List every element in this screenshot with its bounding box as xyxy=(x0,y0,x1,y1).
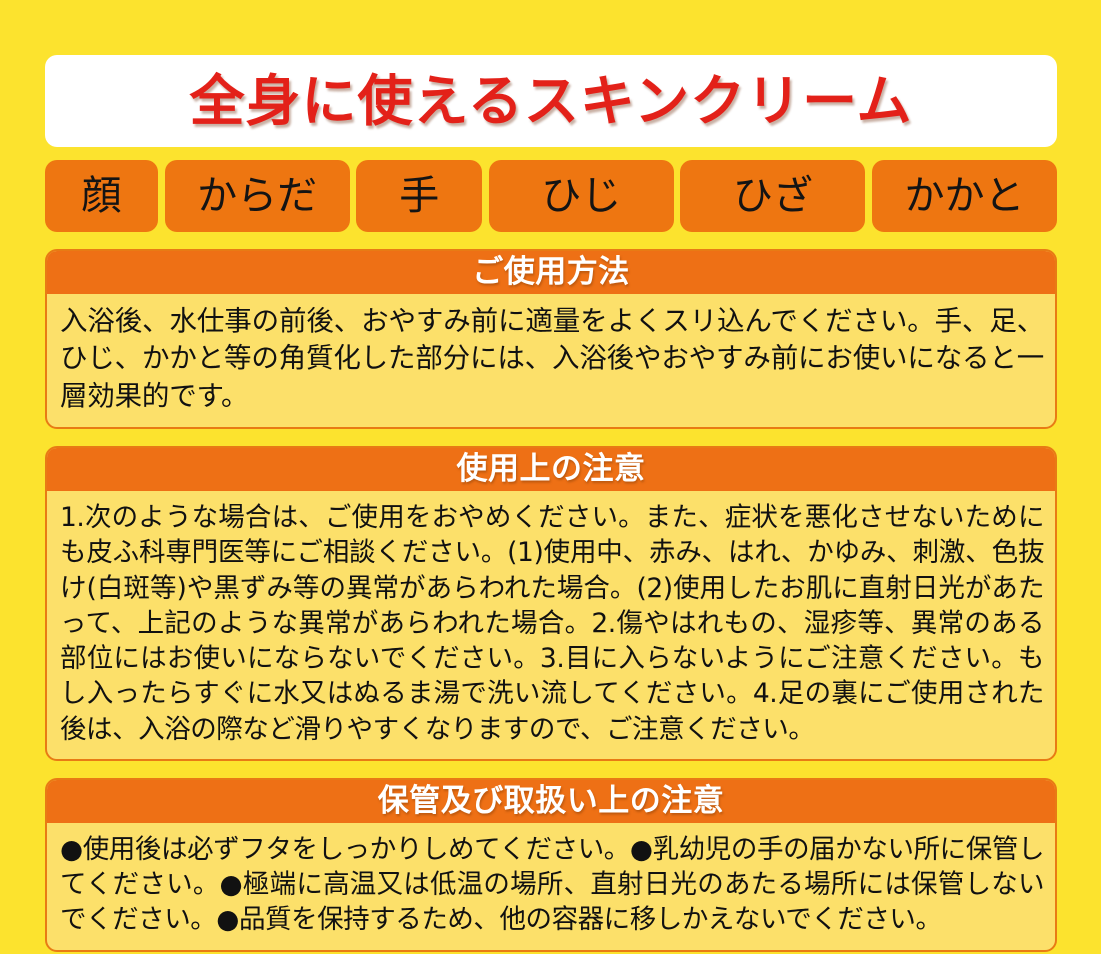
section-precautions-body: 1.次のような場合は、ご使用をおやめください。また、症状を悪化させないためにも皮… xyxy=(47,491,1055,759)
section-usage-title: ご使用方法 xyxy=(472,257,630,288)
section-usage-header: ご使用方法 xyxy=(47,251,1055,294)
tag-hand: 手 xyxy=(356,160,482,232)
section-storage-body: ●使用後は必ずフタをしっかりしめてください。●乳幼児の手の届かない所に保管してく… xyxy=(47,823,1055,950)
title-box: 全身に使えるスキンクリーム xyxy=(45,55,1057,147)
tag-face: 顔 xyxy=(45,160,158,232)
section-storage-title: 保管及び取扱い上の注意 xyxy=(378,786,725,817)
tag-elbow: ひじ xyxy=(489,160,674,232)
section-precautions-header: 使用上の注意 xyxy=(47,448,1055,491)
tag-knee: ひざ xyxy=(680,160,865,232)
section-usage-body: 入浴後、水仕事の前後、おやすみ前に適量をよくスリ込んでください。手、足、ひじ、か… xyxy=(47,294,1055,427)
tag-heel: かかと xyxy=(872,160,1057,232)
section-storage: 保管及び取扱い上の注意 ●使用後は必ずフタをしっかりしめてください。●乳幼児の手… xyxy=(45,778,1057,952)
section-usage: ご使用方法 入浴後、水仕事の前後、おやすみ前に適量をよくスリ込んでください。手、… xyxy=(45,249,1057,429)
tag-body: からだ xyxy=(165,160,350,232)
product-label-page: 全身に使えるスキンクリーム 顔 からだ 手 ひじ ひざ かかと ご使用方法 入浴… xyxy=(0,0,1101,954)
section-precautions: 使用上の注意 1.次のような場合は、ご使用をおやめください。また、症状を悪化させ… xyxy=(45,446,1057,761)
section-precautions-title: 使用上の注意 xyxy=(457,454,646,485)
section-storage-header: 保管及び取扱い上の注意 xyxy=(47,780,1055,823)
body-part-tag-row: 顔 からだ 手 ひじ ひざ かかと xyxy=(45,160,1057,232)
page-title: 全身に使えるスキンクリーム xyxy=(189,74,912,129)
